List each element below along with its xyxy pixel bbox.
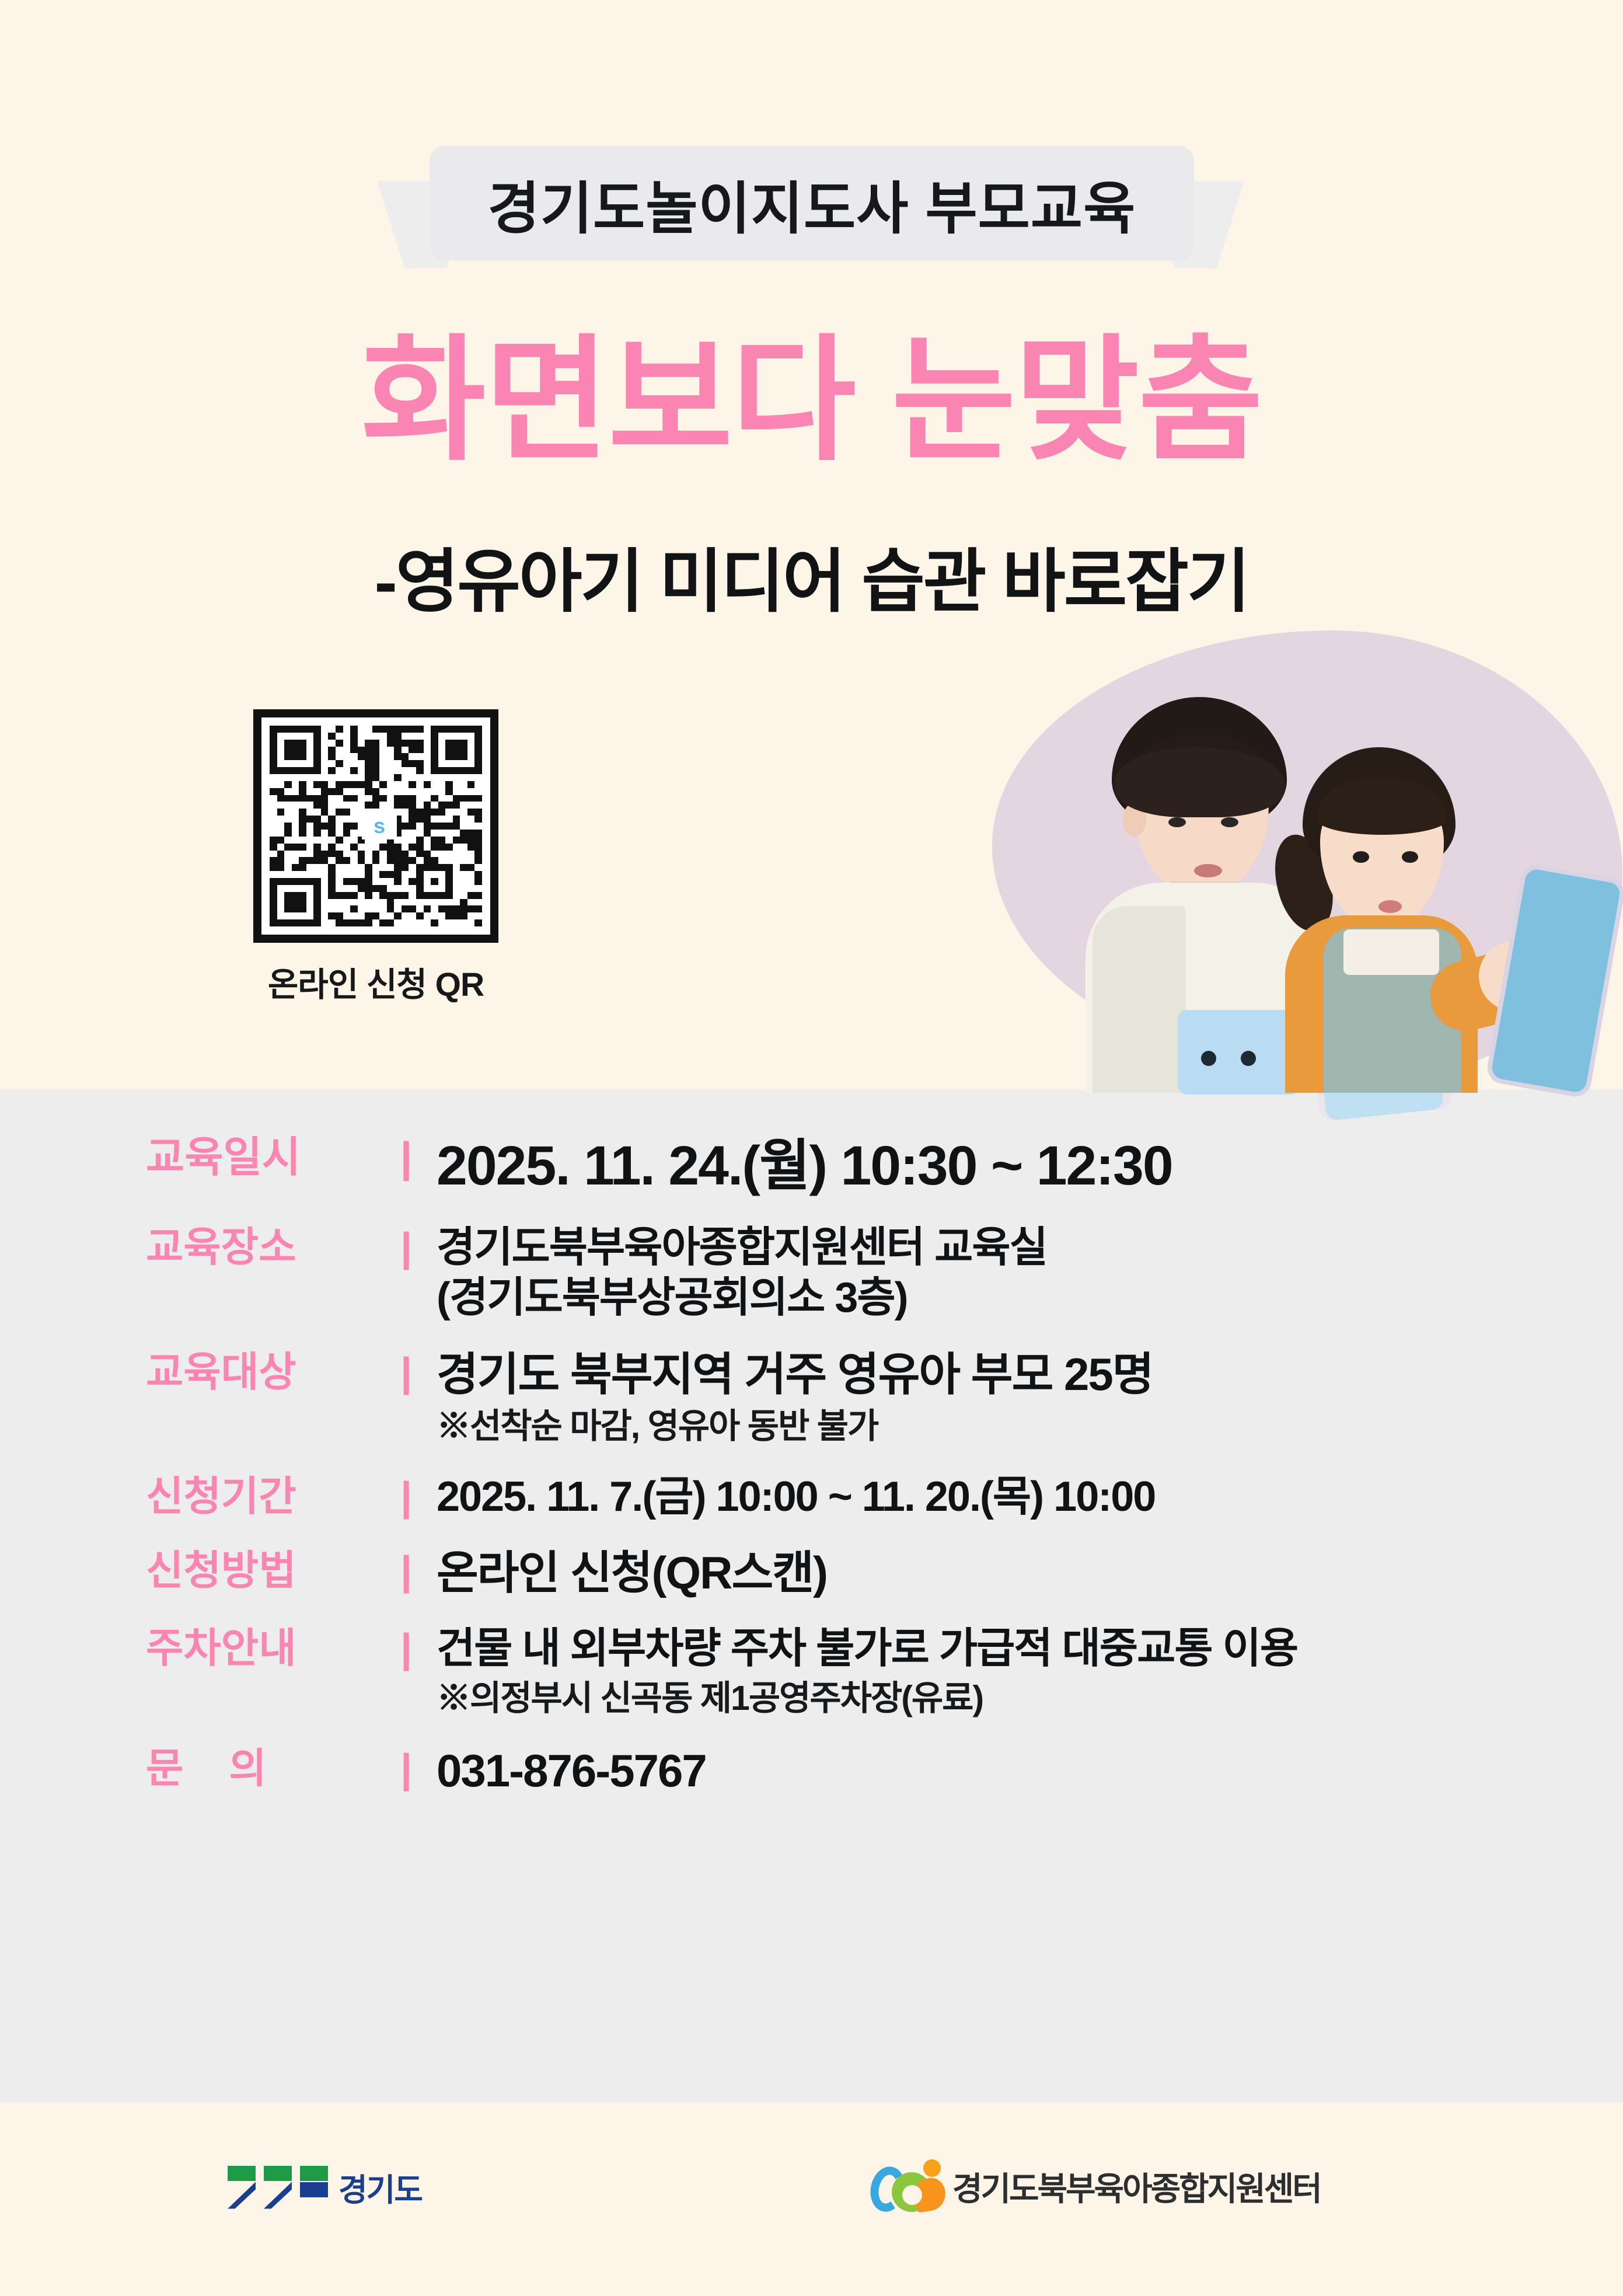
info-row-separator: |	[391, 1546, 421, 1595]
ribbon-label: 경기도놀이지도사 부모교육	[488, 162, 1136, 245]
logo-childcare-center: 경기도북부육아종합지원센터	[870, 2158, 1321, 2214]
qr-caption: 온라인 신청 QR	[253, 958, 498, 1006]
info-row-value: 건물 내 외부차량 주차 불가로 가급적 대중교통 이용※의정부시 신곡동 제1…	[421, 1623, 1506, 1720]
info-row-separator: |	[391, 1222, 421, 1272]
qr-center-logo-icon: s	[362, 813, 397, 839]
info-row-label: 주차안내	[146, 1623, 391, 1673]
info-row-separator: |	[391, 1744, 421, 1793]
info-row-separator: |	[391, 1623, 421, 1673]
info-row-value: 031-876-5767	[421, 1744, 1506, 1799]
girl-apron-bib	[1343, 929, 1439, 975]
info-row: 신청기간|2025. 11. 7.(금) 10:00 ~ 11. 20.(목) …	[146, 1472, 1506, 1522]
boy-print-left-eye	[1201, 1051, 1216, 1066]
info-row-value: 2025. 11. 7.(금) 10:00 ~ 11. 20.(목) 10:00	[421, 1472, 1506, 1522]
boy-shirt-print	[1178, 1010, 1300, 1095]
logo-center-label: 경기도북부육아종합지원센터	[952, 2163, 1321, 2210]
page-subtitle: -영유아기 미디어 습관 바로잡기	[0, 525, 1623, 625]
logo-gyeonggi-province: 경기도	[228, 2164, 422, 2210]
page-title: 화면보다 눈맞춤	[0, 330, 1623, 472]
info-row-separator: |	[391, 1347, 421, 1397]
girl-mouth	[1378, 900, 1402, 913]
boy-print-right-eye	[1241, 1051, 1256, 1066]
info-row: 교육대상|경기도 북부지역 거주 영유아 부모 25명※선착순 마감, 영유아 …	[146, 1347, 1506, 1448]
info-row-label: 교육일시	[146, 1133, 391, 1184]
boy-left-eye	[1168, 817, 1186, 827]
info-row-value-secondary: (경기도북부상공회의소 3층)	[437, 1273, 1506, 1324]
girl-tablet	[1485, 862, 1623, 1099]
boy-shirt-shadow	[1093, 906, 1186, 1093]
info-row-label: 교육대상	[146, 1347, 391, 1397]
info-row: 신청방법|온라인 신청(QR스캔)	[146, 1546, 1506, 1601]
info-row-label: 신청방법	[146, 1546, 391, 1595]
children-with-phones-illustration	[1080, 677, 1605, 1089]
info-row-value-primary: 2025. 11. 24.(월) 10:30 ~ 12:30	[437, 1133, 1506, 1199]
qr-block[interactable]: 온라인 신청 QR	[253, 709, 504, 1006]
childcare-center-emblem-icon	[870, 2158, 944, 2214]
info-row: 주차안내|건물 내 외부차량 주차 불가로 가급적 대중교통 이용※의정부시 신…	[146, 1623, 1506, 1720]
info-row-value: 온라인 신청(QR스캔)	[421, 1546, 1506, 1601]
information-list: 교육일시|2025. 11. 24.(월) 10:30 ~ 12:30교육장소|…	[146, 1133, 1506, 1822]
info-row-label: 교육장소	[146, 1222, 391, 1272]
boy-right-eye	[1221, 817, 1238, 827]
ribbon-banner: 경기도놀이지도사 부모교육	[0, 146, 1623, 280]
info-row-value-primary: 경기도북부육아종합지원센터 교육실	[437, 1222, 1506, 1273]
gyeonggi-emblem-icon	[228, 2166, 328, 2209]
boy-hair-highlight	[1115, 747, 1285, 817]
boy-mouth	[1194, 864, 1222, 877]
info-row-value-primary: 031-876-5767	[437, 1744, 1506, 1799]
footer: 경기도 경기도북부육아종합지원센터	[0, 2128, 1623, 2245]
info-row-value: 경기도북부육아종합지원센터 교육실(경기도북부상공회의소 3층)	[421, 1222, 1506, 1324]
info-row-label: 문 의	[146, 1744, 391, 1793]
info-row-value-primary: 경기도 북부지역 거주 영유아 부모 25명	[437, 1347, 1506, 1402]
info-row: 문 의|031-876-5767	[146, 1744, 1506, 1799]
info-row: 교육장소|경기도북부육아종합지원센터 교육실(경기도북부상공회의소 3층)	[146, 1222, 1506, 1324]
info-row-value: 경기도 북부지역 거주 영유아 부모 25명※선착순 마감, 영유아 동반 불가	[421, 1347, 1506, 1448]
info-row-separator: |	[391, 1133, 421, 1184]
info-row-note: ※선착순 마감, 영유아 동반 불가	[437, 1405, 1506, 1449]
logo-province-label: 경기도	[338, 2164, 422, 2210]
info-row-value-primary: 건물 내 외부차량 주차 불가로 가급적 대중교통 이용	[437, 1623, 1506, 1674]
info-row-note: ※의정부시 신곡동 제1공영주차장(유료)	[437, 1677, 1506, 1721]
info-row-value: 2025. 11. 24.(월) 10:30 ~ 12:30	[421, 1133, 1506, 1199]
ribbon-plate: 경기도놀이지도사 부모교육	[430, 146, 1194, 260]
info-row-value-primary: 2025. 11. 7.(금) 10:00 ~ 11. 20.(목) 10:00	[437, 1472, 1506, 1522]
info-row-value-primary: 온라인 신청(QR스캔)	[437, 1546, 1506, 1601]
info-row-label: 신청기간	[146, 1472, 391, 1521]
girl-left-eye	[1353, 851, 1369, 863]
info-row: 교육일시|2025. 11. 24.(월) 10:30 ~ 12:30	[146, 1133, 1506, 1199]
girl-right-eye	[1402, 851, 1418, 863]
info-row-separator: |	[391, 1472, 421, 1521]
